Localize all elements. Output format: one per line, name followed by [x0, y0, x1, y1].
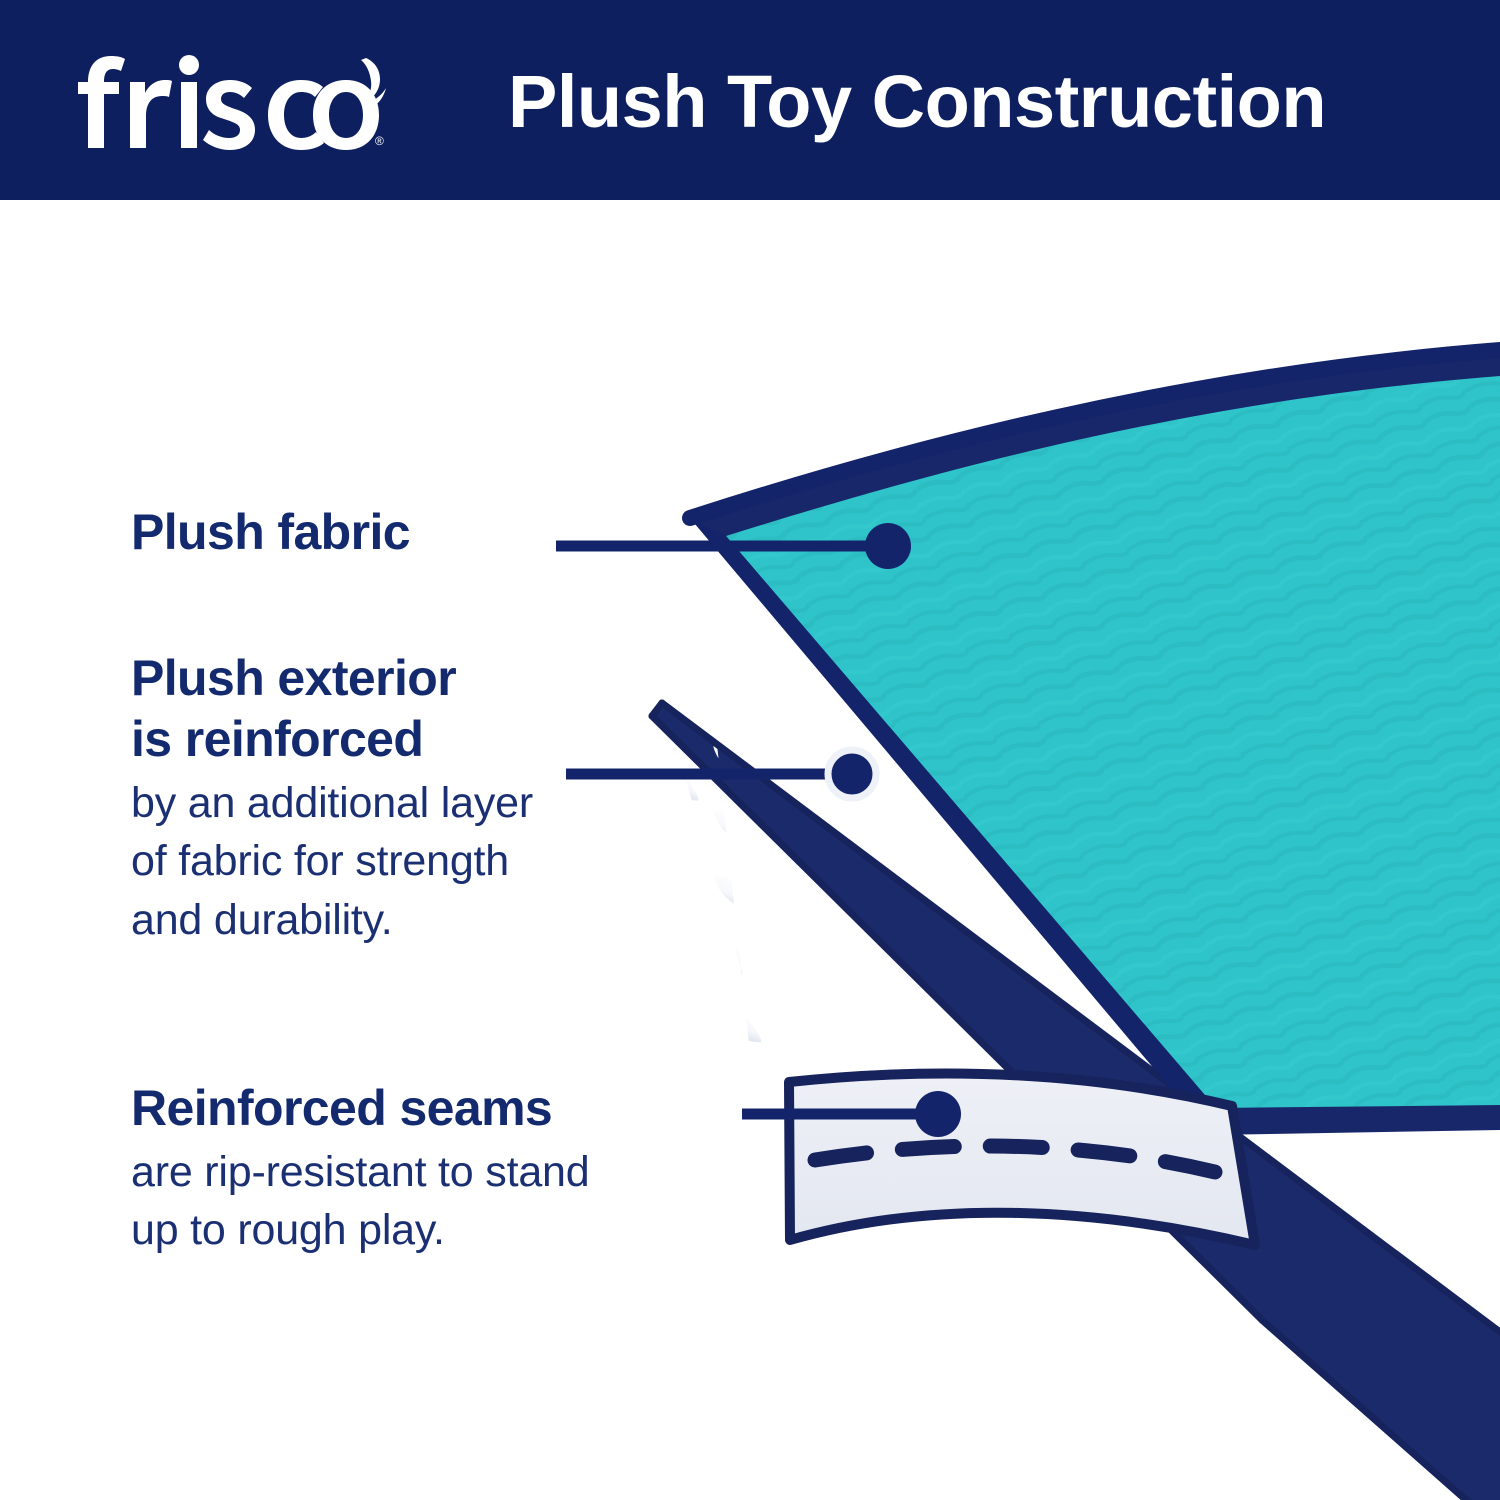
- marker-dot-plush-fabric: [865, 523, 911, 569]
- callout-reinforced-seams-body: are rip-resistant to stand up to rough p…: [131, 1143, 589, 1260]
- leader-plush-exterior: [566, 750, 876, 798]
- callout-plush-fabric-heading: Plush fabric: [131, 502, 410, 563]
- marker-dot-plush-exterior: [828, 750, 876, 798]
- leader-reinforced-seams: [742, 1091, 961, 1137]
- callout-plush-exterior-heading: Plush exterior is reinforced: [131, 648, 533, 770]
- callout-plush-exterior: Plush exterior is reinforced by an addit…: [131, 648, 533, 949]
- callout-reinforced-seams-heading: Reinforced seams: [131, 1078, 589, 1139]
- callout-plush-exterior-body: by an additional layer of fabric for str…: [131, 774, 533, 949]
- callout-reinforced-seams: Reinforced seams are rip-resistant to st…: [131, 1078, 589, 1260]
- leader-plush-fabric: [556, 523, 911, 569]
- marker-dot-reinforced-seams: [915, 1091, 961, 1137]
- callout-plush-fabric: Plush fabric: [131, 502, 410, 563]
- infographic-canvas: ® Plush Toy Construction: [0, 0, 1500, 1500]
